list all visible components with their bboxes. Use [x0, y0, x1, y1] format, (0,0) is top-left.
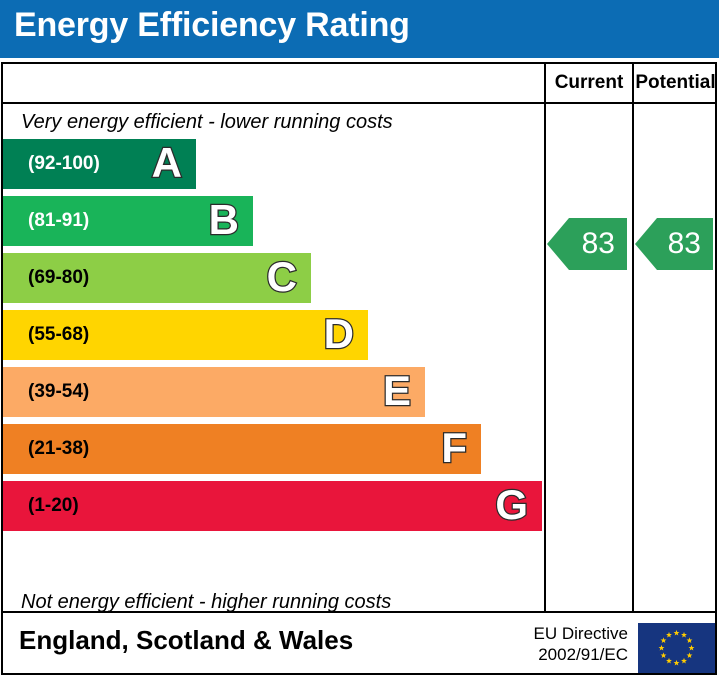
- column-header-potential: Potential: [634, 72, 717, 94]
- column-header-current: Current: [546, 72, 632, 94]
- band-letter-label: D: [324, 313, 354, 355]
- band-letter-label: F: [441, 427, 467, 469]
- rating-band-g: (1-20)G: [3, 481, 542, 531]
- footer-directive-line2: 2002/91/EC: [523, 644, 628, 665]
- band-range-label: (55-68): [28, 324, 89, 346]
- band-letter-label: A: [152, 142, 182, 184]
- band-range-label: (92-100): [28, 153, 100, 175]
- band-range-label: (21-38): [28, 438, 89, 460]
- footer-region-label: England, Scotland & Wales: [19, 625, 353, 656]
- current-rating-value: 83: [582, 227, 615, 261]
- band-range-label: (1-20): [28, 495, 79, 517]
- title-banner: Energy Efficiency Rating: [0, 0, 719, 58]
- rating-band-d: (55-68)D: [3, 310, 368, 360]
- band-letter-label: G: [495, 484, 528, 526]
- rating-band-a: (92-100)A: [3, 139, 196, 189]
- chart-footer: England, Scotland & Wales EU Directive 2…: [1, 613, 717, 675]
- potential-rating-arrow: 83: [635, 218, 713, 270]
- energy-efficiency-rating-chart: Energy Efficiency Rating Current Potenti…: [0, 0, 719, 676]
- page-title: Energy Efficiency Rating: [14, 6, 410, 45]
- rating-band-c: (69-80)C: [3, 253, 311, 303]
- potential-column-divider: [632, 64, 634, 611]
- footer-directive-line1: EU Directive: [523, 623, 628, 644]
- potential-rating-value: 83: [668, 227, 701, 261]
- band-range-label: (39-54): [28, 381, 89, 403]
- rating-bands: (92-100)A(81-91)B(69-80)C(55-68)D(39-54)…: [3, 64, 544, 611]
- rating-band-f: (21-38)F: [3, 424, 481, 474]
- current-rating-arrow: 83: [547, 218, 627, 270]
- chart-frame: Current Potential Very energy efficient …: [1, 62, 717, 613]
- band-range-label: (69-80): [28, 267, 89, 289]
- current-column-divider: [544, 64, 546, 611]
- footer-directive: EU Directive 2002/91/EC: [523, 623, 628, 666]
- rating-band-b: (81-91)B: [3, 196, 253, 246]
- band-letter-label: E: [383, 370, 411, 412]
- band-letter-label: C: [267, 256, 297, 298]
- band-letter-label: B: [209, 199, 239, 241]
- eu-flag-icon: [638, 623, 715, 673]
- band-range-label: (81-91): [28, 210, 89, 232]
- rating-band-e: (39-54)E: [3, 367, 425, 417]
